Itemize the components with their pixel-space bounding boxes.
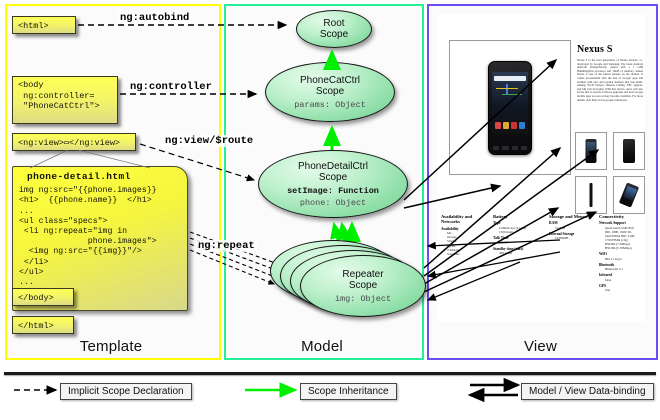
- spec-value: false: [599, 278, 647, 282]
- scope-repeater: Repeater Scope img: Object: [300, 255, 426, 317]
- scope-phonecatctrl-params: params: Object: [294, 100, 365, 110]
- column-label-template: Template: [5, 336, 217, 358]
- phone-device-image: [488, 61, 532, 155]
- scope-phonedetailctrl: PhoneDetailCtrl Scope setImage: Function…: [258, 150, 408, 218]
- sticky-code: img ng:src="{{phone.images}} <h1> {{phon…: [19, 186, 157, 287]
- view-phone-title: Nexus S: [577, 44, 613, 55]
- legend-item-implicit-scope-declaration: Implicit Scope Declaration: [60, 383, 192, 400]
- scope-phonedetailctrl-label: PhoneDetailCtrl Scope: [298, 161, 368, 184]
- thumbnail-phone-front[interactable]: [575, 132, 607, 170]
- phone-photo-frame: [449, 40, 571, 175]
- code-html-open: <html>: [12, 16, 76, 34]
- spec-value: Bluetooth 2.1: [599, 267, 647, 271]
- thumbnail-phone-back[interactable]: [613, 132, 645, 170]
- spec-header: Storage and Memory: [549, 214, 597, 219]
- thumbnail-phone-edge[interactable]: [575, 176, 607, 214]
- thumbnail-phone-angled[interactable]: [613, 176, 645, 214]
- view-page: Nexus S Nexus S is the next generation o…: [437, 14, 645, 322]
- scope-repeater-img: img: Object: [335, 294, 391, 304]
- spec-value: 6 hours: [493, 240, 545, 244]
- scope-root: Root Scope: [296, 10, 372, 48]
- scope-repeater-label: Repeater Scope: [342, 269, 383, 292]
- scope-phonecatctrl: PhoneCatCtrl Scope params: Object: [265, 62, 395, 122]
- code-ng-view: <ng:view>▭</ng:view>: [12, 133, 136, 151]
- spec-value: 802.11 b/g/n: [599, 257, 647, 261]
- scope-phonecatctrl-label: PhoneCatCtrl Scope: [300, 75, 360, 98]
- code-body-open: <body ng:controller= "PhoneCatCtrl">: [12, 76, 118, 124]
- spec-value: 512MB: [549, 226, 597, 230]
- scope-phonedetailctrl-setimage: setImage: Function: [287, 186, 379, 196]
- spec-header: Availability and Networks: [441, 214, 487, 225]
- edge-label-repeat: ng:repeat: [196, 240, 257, 252]
- spec-value: 1500 mAh: [493, 230, 545, 234]
- column-label-model: Model: [224, 336, 420, 358]
- scope-phonedetailctrl-phone: phone: Object: [300, 198, 366, 208]
- column-label-view: View: [427, 336, 654, 358]
- edge-label-ngview: ng:view/$route: [163, 135, 255, 147]
- spec-value: true: [599, 288, 647, 292]
- edge-label-controller: ng:controller: [128, 81, 214, 93]
- spec-value: HSUPA (5.76Mbps): [599, 246, 647, 250]
- spec-value: Vodafone: [441, 252, 487, 256]
- diagram-root: <html> <body ng:controller= "PhoneCatCtr…: [0, 0, 660, 420]
- spec-value: 16384MB: [549, 236, 597, 240]
- code-html-close: </html>: [12, 316, 74, 334]
- legend-item-scope-inheritance: Scope Inheritance: [300, 383, 397, 400]
- spec-header: Connectivity: [599, 214, 647, 219]
- view-phone-description: Nexus S is the next generation of Nexus …: [577, 59, 643, 102]
- legend-item-data-binding: Model / View Data-binding: [521, 383, 654, 400]
- thumbnail-grid: [575, 132, 645, 220]
- legend-divider: [4, 372, 656, 375]
- edge-label-autobind: ng:autobind: [118, 12, 191, 24]
- scope-root-label: Root Scope: [320, 18, 348, 41]
- spec-value: 428 hours: [493, 251, 545, 255]
- spec-header: Battery: [493, 214, 545, 219]
- code-body-close: </body>: [12, 288, 74, 306]
- sticky-filename: phone-detail.html: [19, 171, 181, 186]
